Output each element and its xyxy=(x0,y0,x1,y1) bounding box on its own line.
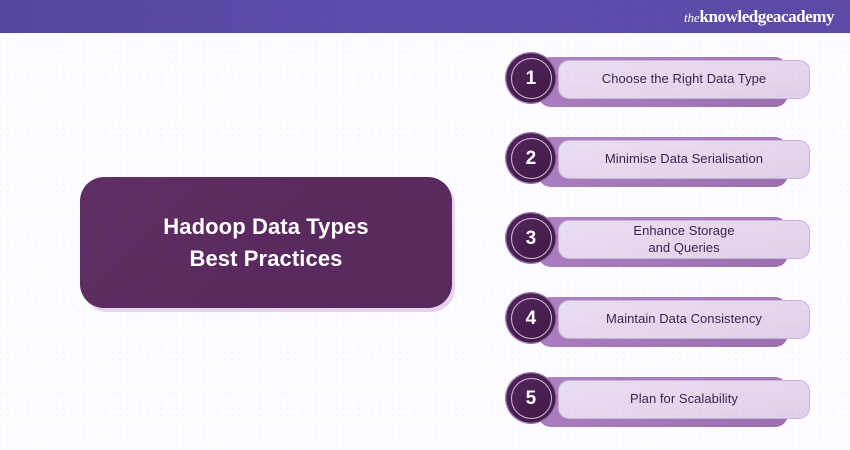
infographic-canvas: theknowledgeacademy Hadoop Data Types Be… xyxy=(0,0,850,450)
list-item-slab: Plan for Scalability xyxy=(538,377,788,427)
list-item-label: Maintain Data Consistency xyxy=(606,311,762,328)
list-item-label-second-line: and Queries xyxy=(648,240,719,257)
list-item-label-box: Enhance Storage and Queries xyxy=(558,220,810,259)
brand-logo: theknowledgeacademy xyxy=(684,8,834,26)
list-item[interactable]: Choose the Right Data Type 1 xyxy=(508,55,788,107)
page-title-line-1: Hadoop Data Types xyxy=(163,211,368,242)
list-item-label: Minimise Data Serialisation xyxy=(605,151,763,168)
list-item-slab: Maintain Data Consistency xyxy=(538,297,788,347)
list-item-number: 4 xyxy=(526,309,537,328)
list-item-number-badge: 2 xyxy=(508,135,554,181)
brand-logo-prefix: the xyxy=(684,10,700,25)
list-item[interactable]: Plan for Scalability 5 xyxy=(508,375,788,427)
list-item-slab: Choose the Right Data Type xyxy=(538,57,788,107)
list-item-label-box: Maintain Data Consistency xyxy=(558,300,810,339)
page-title-card: Hadoop Data Types Best Practices xyxy=(80,177,452,308)
list-item-number-badge: 5 xyxy=(508,375,554,421)
header-band: theknowledgeacademy xyxy=(0,0,850,33)
list-item-slab: Enhance Storage and Queries xyxy=(538,217,788,267)
list-item-label: Plan for Scalability xyxy=(630,391,738,408)
list-item[interactable]: Maintain Data Consistency 4 xyxy=(508,295,788,347)
list-item-label-box: Choose the Right Data Type xyxy=(558,60,810,99)
list-item-label-box: Plan for Scalability xyxy=(558,380,810,419)
best-practices-list: Choose the Right Data Type 1 Minimise Da… xyxy=(508,55,788,435)
list-item-label: Choose the Right Data Type xyxy=(602,71,766,88)
list-item-number-badge: 3 xyxy=(508,215,554,261)
page-title-line-2: Best Practices xyxy=(189,243,342,274)
list-item[interactable]: Minimise Data Serialisation 2 xyxy=(508,135,788,187)
list-item-number-badge: 1 xyxy=(508,55,554,101)
list-item-number: 2 xyxy=(526,149,537,168)
list-item-number: 1 xyxy=(526,69,537,88)
list-item-number: 5 xyxy=(526,389,537,408)
brand-logo-name: knowledgeacademy xyxy=(700,7,834,26)
list-item-number: 3 xyxy=(526,229,537,248)
list-item-slab: Minimise Data Serialisation xyxy=(538,137,788,187)
list-item[interactable]: Enhance Storage and Queries 3 xyxy=(508,215,788,267)
list-item-label: Enhance Storage xyxy=(633,223,734,240)
list-item-number-badge: 4 xyxy=(508,295,554,341)
list-item-label-box: Minimise Data Serialisation xyxy=(558,140,810,179)
